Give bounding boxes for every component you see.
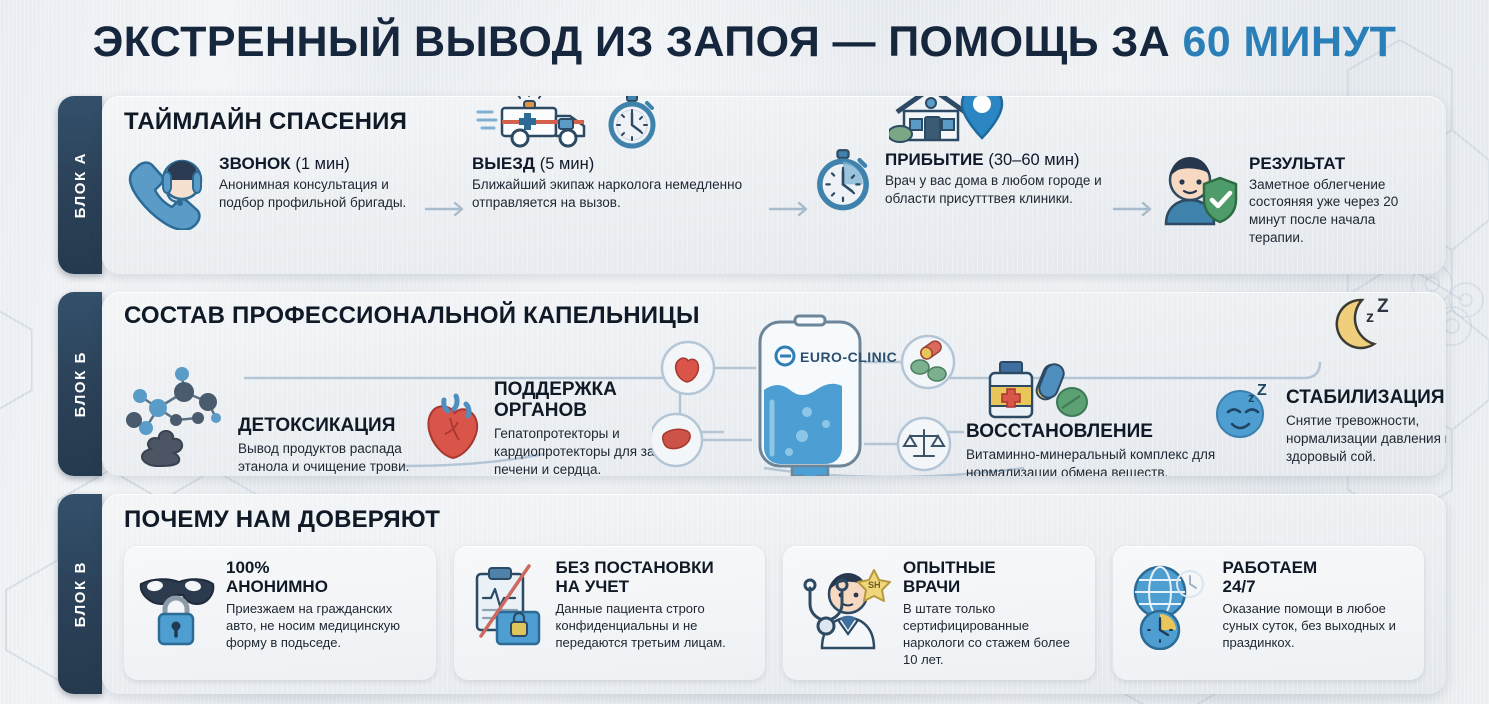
block-c-tab: БЛОК В [58,494,102,694]
timeline-step-dispatch-head: ВЫЕЗД (5 мин) [472,154,768,174]
block-a-panel: ТАЙМЛАЙН СПАСЕНИЯ [102,96,1446,274]
arrow-right-icon-3 [1112,200,1156,218]
step-head-note: (30–60 мин) [988,151,1079,169]
trust-cards: 100% АНОНИМНО Приезжаем на гражданских а… [124,546,1446,680]
block-b-iv-composition: БЛОК Б СОСТАВ ПРОФЕССИОНАЛЬНОЙ КАПЕЛЬНИЦ… [58,292,1446,476]
svg-text:SH: SH [868,580,881,590]
b-item-stabilization-head: СТАБИЛИЗАЦИЯ [1286,388,1446,409]
block-b-tab: БЛОК Б [58,292,102,476]
b-item-detox-head: ДЕТОКСИКАЦИЯ [238,416,424,437]
trust-card-no-registration: БЕЗ ПОСТАНОВКИ НА УЧЕТ Данные пациента с… [454,546,766,680]
timeline-step-result-head: РЕЗУЛЬТАТ [1249,154,1426,174]
phone-headset-icon [124,150,210,230]
b-item-recovery-desc: Витаминно-минеральный комплекс для норма… [966,446,1216,476]
timeline-step-call-desc: Анонимная консультация и подбор профильн… [219,176,424,212]
block-c-trust: БЛОК В ПОЧЕМУ НАМ ДОВЕРЯЮТ [58,494,1446,694]
stopwatch-icon-arrival [812,148,874,212]
timeline-step-arrival-desc: Врач у вас дома в любом городе и области… [885,172,1112,208]
head-line-2: АНОНИМНО [226,577,423,596]
head-line-1: БЕЗ ПОСТАНОВКИ [556,558,753,577]
block-a-title: ТАЙМЛАЙН СПАСЕНИЯ [124,108,1446,136]
step-head-text: РЕЗУЛЬТАТ [1249,154,1345,173]
pills-satellite [902,336,954,388]
trust-card-anonymous-head: 100% АНОНИМНО [226,558,423,597]
b-item-stabilization-desc: Снятие тревожности, нормализации давлени… [1286,412,1446,466]
ambulance-stopwatch-icon [468,96,768,150]
step-head-note: (1 мин) [295,155,349,173]
svg-text:Z: Z [1257,384,1267,399]
step-head-text: ПРИБЫТИЕ [885,150,984,169]
block-a-tab: БЛОК А [58,96,102,274]
trust-card-no-registration-head: БЕЗ ПОСТАНОВКИ НА УЧЕТ [556,558,753,597]
house-pin-icon [883,96,1112,144]
b-item-detox-desc: Вывод продуктов распада этанола и очищен… [238,440,424,476]
arrow-right-icon-2 [768,200,812,218]
trust-card-no-registration-desc: Данные пациента строго конфиденциальны и… [556,600,753,651]
trust-card-anonymous: 100% АНОНИМНО Приезжаем на гражданских а… [124,546,436,680]
head-line-1: РАБОТАЕМ [1223,558,1412,577]
svg-text:z: z [1366,309,1374,326]
iv-bag-group: EURO-CLINIC [652,312,982,476]
globe-clock-icon [1126,558,1212,650]
vitamin-bottle-icon [976,358,1216,420]
step-head-text: ЗВОНОК [219,154,291,173]
molecule-icon [124,362,228,474]
person-shield-check-icon [1156,150,1240,228]
timeline-step-call-head: ЗВОНОК (1 мин) [219,154,424,174]
page-header: ЭКСТРЕННЫЙ ВЫВОД ИЗ ЗАПОЯ — ПОМОЩЬ ЗА 60… [0,0,1489,84]
head-line-2: НА УЧЕТ [556,577,753,596]
trust-card-24-7: РАБОТАЕМ 24/7 Оказание помощи в любое су… [1113,546,1425,680]
block-c-title: ПОЧЕМУ НАМ ДОВЕРЯЮТ [124,506,1446,534]
doctor-star-icon: SH [796,558,892,652]
block-b-tab-label: БЛОК Б [72,351,89,417]
block-b-panel: СОСТАВ ПРОФЕССИОНАЛЬНОЙ КАПЕЛЬНИЦЫ [102,292,1446,476]
stopwatch-icon [604,96,660,150]
page-title: ЭКСТРЕННЫЙ ВЫВОД ИЗ ЗАПОЯ — ПОМОЩЬ ЗА 60… [93,18,1397,67]
trust-card-experienced-doctors: SH ОПЫТНЫЕ ВРАЧИ В штате только сертифиц… [783,546,1095,680]
trust-card-experienced-doctors-desc: В штате только сертифицированные нарколо… [903,600,1082,669]
step-head-note: (5 мин) [540,155,594,173]
page-title-accent: 60 МИНУТ [1182,18,1396,66]
arrow-right-icon-1 [424,200,468,218]
b-item-detox: ДЕТОКСИКАЦИЯ Вывод продуктов распада эта… [124,362,424,476]
trust-card-24-7-head: РАБОТАЕМ 24/7 [1223,558,1412,597]
b-item-recovery: ВОССТАНОВЛЕНИЕ Витаминно-минеральный ком… [966,358,1216,476]
trust-card-24-7-desc: Оказание помощи в любое суных суток, без… [1223,600,1412,651]
page-title-main: ЭКСТРЕННЫЙ ВЫВОД ИЗ ЗАПОЯ — ПОМОЩЬ ЗА [93,18,1183,66]
block-a-tab-label: БЛОК А [72,152,89,218]
block-c-tab-label: БЛОК В [72,561,89,627]
head-line-2: 24/7 [1223,577,1412,596]
timeline-step-arrival: ПРИБЫТИЕ (30–60 мин) Врач у вас дома в л… [812,148,1112,212]
no-registration-icon [467,558,545,648]
moon-sleep-icon: z Z [1328,292,1400,354]
heart-anatomical-icon [424,380,484,460]
sleeping-face-icon: z Z [1214,382,1276,440]
svg-text:z: z [1248,390,1255,405]
b-item-stabilization: z Z СТАБИЛИЗАЦИЯ Снятие тревожности, нор… [1214,382,1446,466]
timeline-step-dispatch: ВЫЕЗД (5 мин) Ближайший экипаж нарколога… [468,96,768,212]
block-c-panel: ПОЧЕМУ НАМ ДОВЕРЯЮТ [102,494,1446,694]
timeline-step-dispatch-desc: Ближайший экипаж нарколога немедленно от… [472,176,768,212]
timeline-step-call: ЗВОНОК (1 мин) Анонимная консультация и … [124,150,424,230]
step-head-text: ВЫЕЗД [472,154,535,173]
block-a-timeline: БЛОК А ТАЙМЛАЙН СПАСЕНИЯ [58,96,1446,274]
ambulance-icon [476,96,594,150]
svg-text:Z: Z [1377,296,1389,317]
head-line-2: ВРАЧИ [903,577,1082,596]
iv-composition-row: ДЕТОКСИКАЦИЯ Вывод продуктов распада эта… [124,336,1446,476]
timeline-step-result: РЕЗУЛЬТАТ Заметное облегчение состояняя … [1156,150,1426,247]
b-item-recovery-head: ВОССТАНОВЛЕНИЕ [966,422,1216,443]
svg-text:EURO-CLINIC: EURO-CLINIC [800,349,897,365]
mask-lock-icon [137,558,215,648]
trust-card-experienced-doctors-head: ОПЫТНЫЕ ВРАЧИ [903,558,1082,597]
timeline-step-result-desc: Заметное облегчение состояняя уже через … [1249,176,1426,247]
timeline-steps: ЗВОНОК (1 мин) Анонимная консультация и … [124,150,1446,247]
head-line-1: 100% [226,558,423,577]
head-line-1: ОПЫТНЫЕ [903,558,1082,577]
timeline-step-arrival-head: ПРИБЫТИЕ (30–60 мин) [885,150,1112,170]
trust-card-anonymous-desc: Приезжаем на гражданских авто, не носим … [226,600,423,651]
